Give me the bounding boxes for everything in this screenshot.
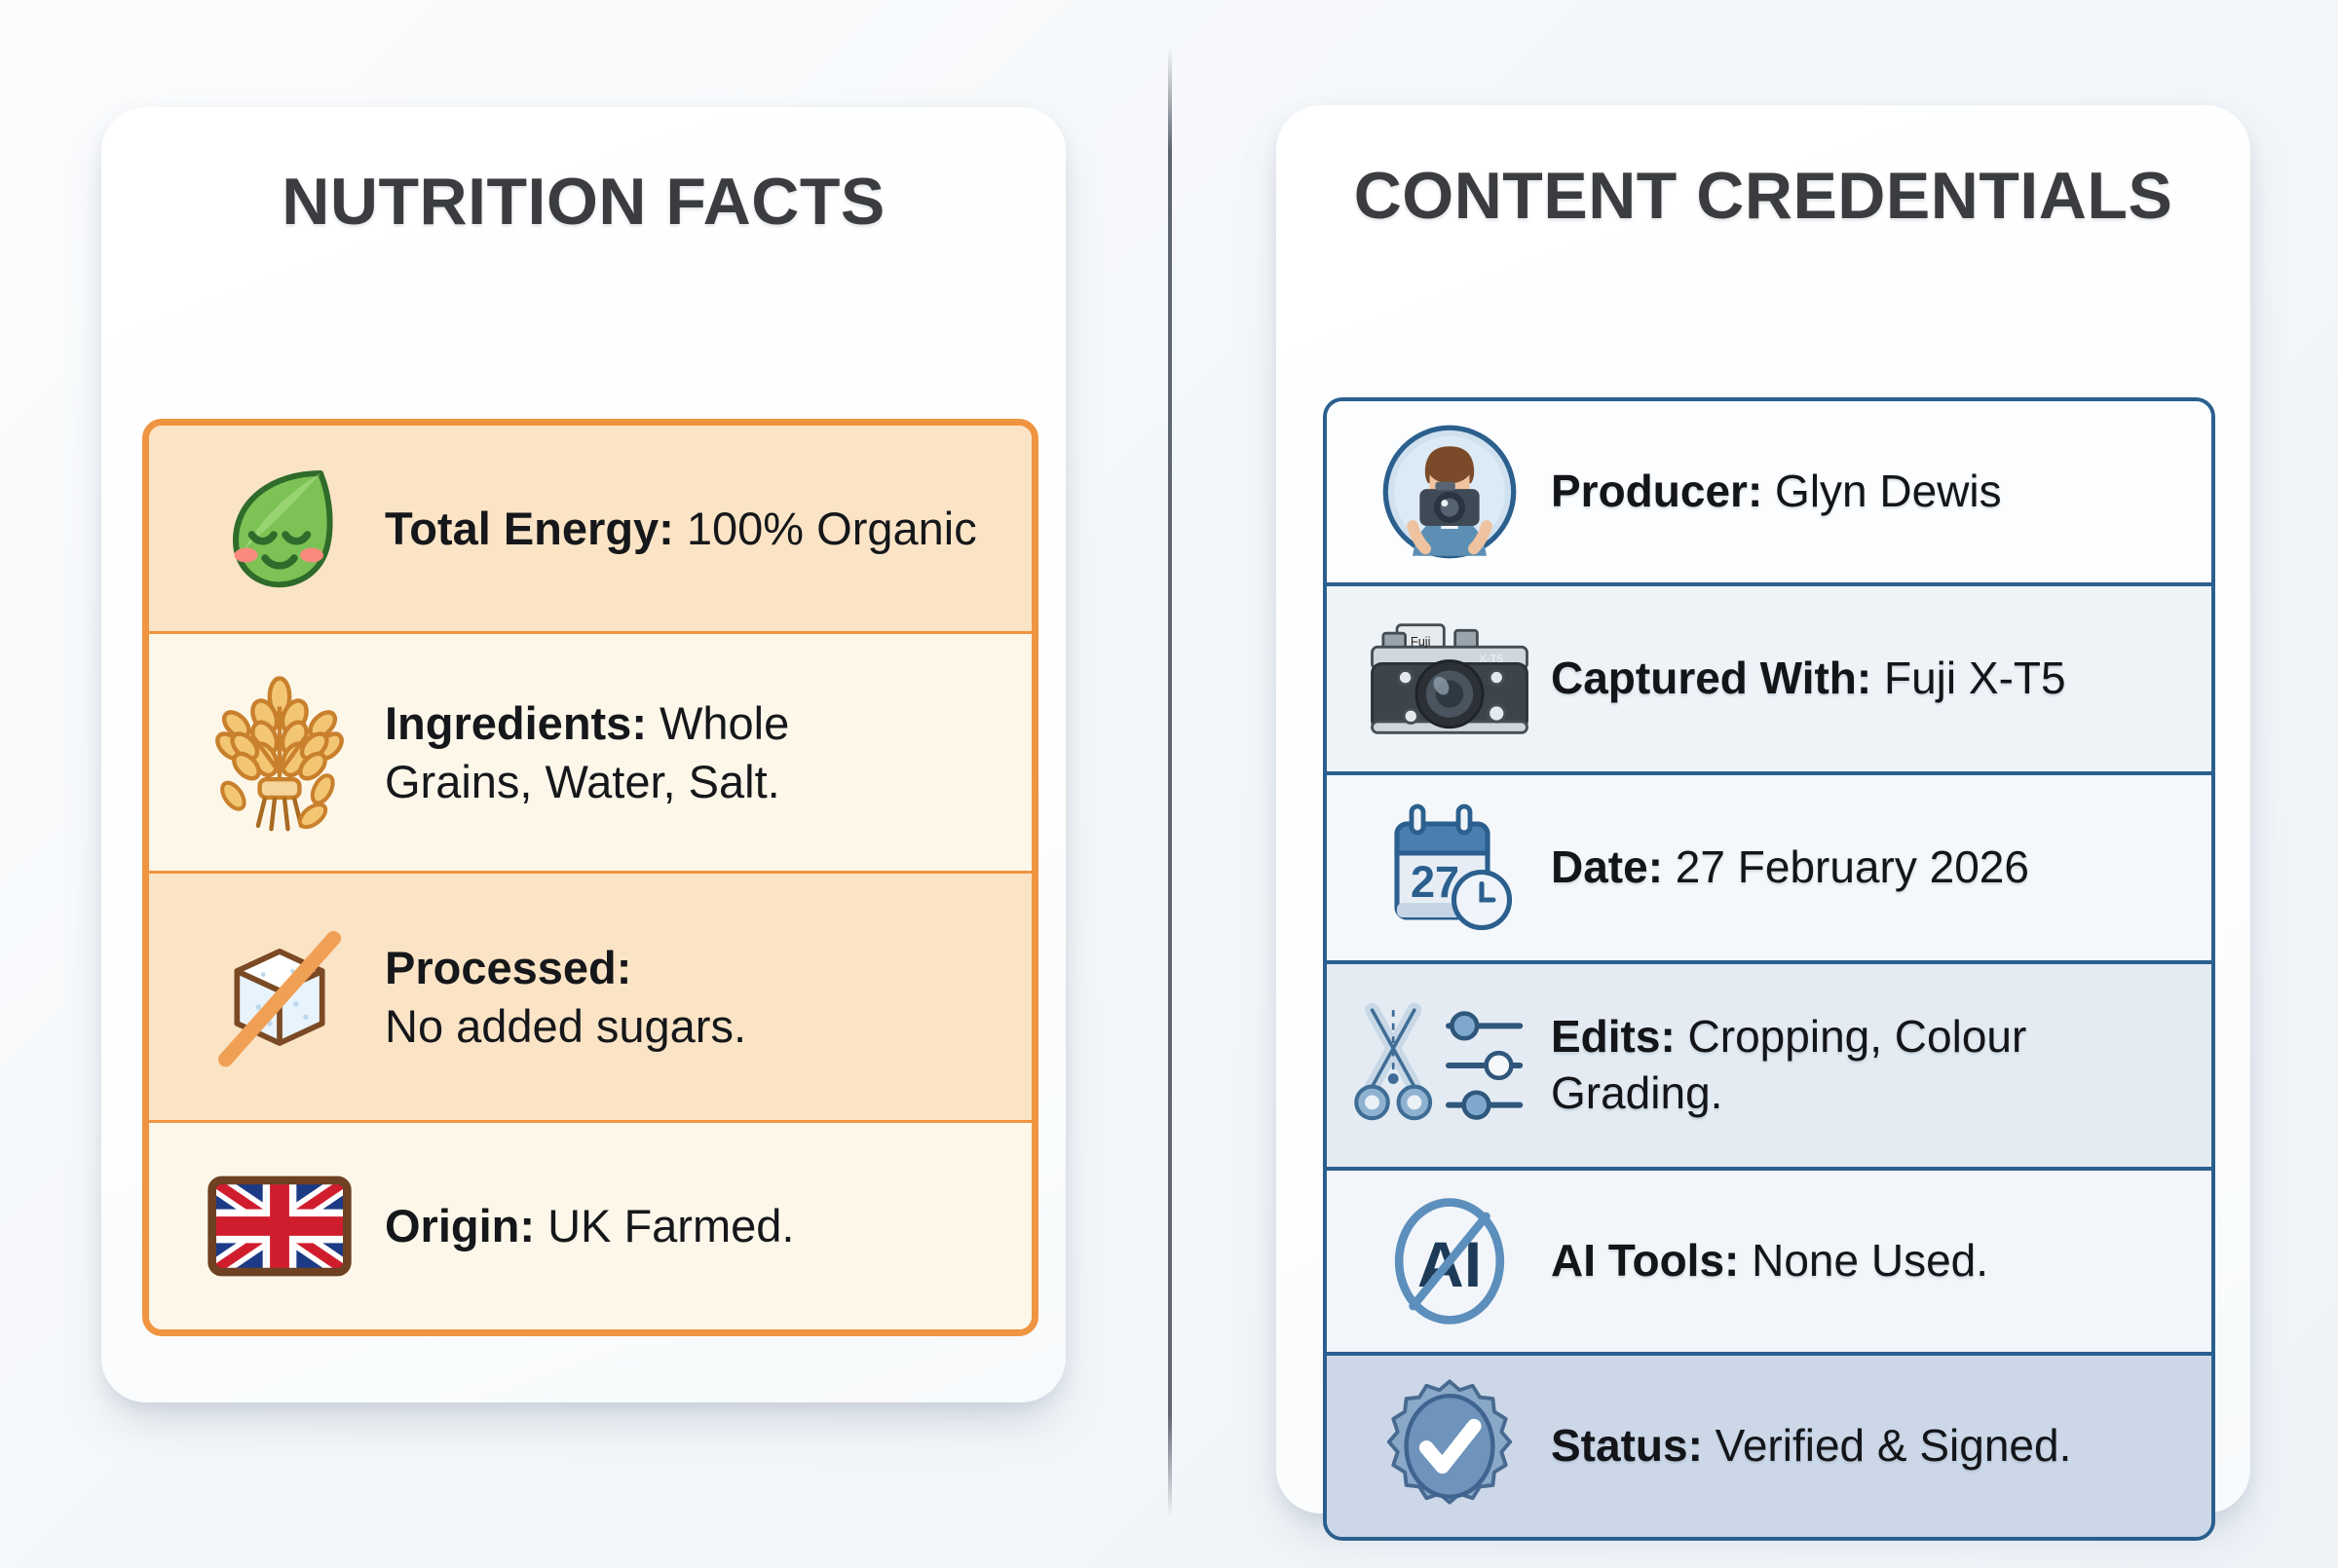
table-row-text: Captured With: Fuji X-T5 xyxy=(1545,651,2066,707)
table-row[interactable]: Producer: Glyn Dewis xyxy=(1327,401,2211,586)
table-row[interactable]: Total Energy: 100% Organic xyxy=(149,426,1032,634)
row-value: Verified & Signed. xyxy=(1703,1420,2071,1471)
content-credentials-table: Producer: Glyn Dewis xyxy=(1323,397,2215,1541)
row-value: No added sugars. xyxy=(385,1000,746,1052)
fuji-camera-icon: Fuji X-T5 xyxy=(1354,611,1545,747)
nutrition-facts-title: NUTRITION FACTS xyxy=(101,164,1066,240)
content-credentials-title: CONTENT CREDENTIALS xyxy=(1276,158,2250,234)
photographer-avatar-icon xyxy=(1354,421,1545,563)
table-row-text: Date: 27 February 2026 xyxy=(1545,840,2029,896)
table-row-text: Processed: No added sugars. xyxy=(377,939,756,1054)
table-row[interactable]: AI AI Tools: None Used. xyxy=(1327,1171,2211,1356)
table-row[interactable]: Processed: No added sugars. xyxy=(149,874,1032,1123)
row-label: Date: xyxy=(1551,841,1663,892)
row-label: AI Tools: xyxy=(1551,1235,1739,1286)
calendar-clock-icon: 27 xyxy=(1354,795,1545,941)
row-label: Processed: xyxy=(385,942,631,993)
row-label: Total Energy: xyxy=(385,503,674,554)
row-label: Edits: xyxy=(1551,1011,1676,1062)
nutrition-facts-panel: NUTRITION FACTS Total Energy: xyxy=(101,107,1066,1402)
infographic-canvas: NUTRITION FACTS Total Energy: xyxy=(0,0,2338,1568)
no-ai-icon: AI xyxy=(1354,1191,1545,1331)
table-row-text: Producer: Glyn Dewis xyxy=(1545,464,2002,520)
row-value: None Used. xyxy=(1739,1235,1988,1286)
row-value: UK Farmed. xyxy=(535,1200,794,1251)
table-row-text: Status: Verified & Signed. xyxy=(1545,1418,2071,1475)
table-row-text: Total Energy: 100% Organic xyxy=(377,500,987,557)
smiling-leaf-icon xyxy=(182,456,377,602)
row-label: Origin: xyxy=(385,1200,535,1251)
table-row[interactable]: Origin: UK Farmed. xyxy=(149,1123,1032,1329)
row-label: Captured With: xyxy=(1551,653,1871,703)
table-row[interactable]: Status: Verified & Signed. xyxy=(1327,1356,2211,1537)
row-label: Producer: xyxy=(1551,466,1762,516)
verified-badge-icon xyxy=(1354,1374,1545,1518)
table-row-text: Edits: Cropping, Colour Grading. xyxy=(1545,1009,2135,1122)
table-row-text: Origin: UK Farmed. xyxy=(377,1197,804,1254)
table-row-text: AI Tools: None Used. xyxy=(1545,1233,1988,1289)
row-label: Ingredients: xyxy=(385,697,647,749)
row-value: 100% Organic xyxy=(674,503,977,554)
table-row[interactable]: 27 Date: 27 February 2026 xyxy=(1327,775,2211,964)
content-credentials-panel: CONTENT CREDENTIALS xyxy=(1276,105,2250,1513)
uk-flag-icon xyxy=(182,1176,377,1277)
nutrition-facts-table: Total Energy: 100% Organic xyxy=(142,419,1038,1336)
center-divider xyxy=(1168,47,1172,1517)
row-value: 27 February 2026 xyxy=(1663,841,2029,892)
row-label: Status: xyxy=(1551,1420,1703,1471)
no-sugar-cube-icon xyxy=(182,915,377,1079)
table-row[interactable]: Ingredients: Whole Grains, Water, Salt. xyxy=(149,634,1032,874)
camera-brand-label: Fuji xyxy=(1411,634,1431,649)
table-row[interactable]: Fuji X-T5 Captured With: Fuji X-T5 xyxy=(1327,586,2211,775)
scissors-sliders-icon xyxy=(1344,1002,1545,1129)
table-row[interactable]: Edits: Cropping, Colour Grading. xyxy=(1327,964,2211,1171)
table-row-text: Ingredients: Whole Grains, Water, Salt. xyxy=(377,694,940,809)
wheat-bundle-icon xyxy=(182,670,377,836)
camera-model-label: X-T5 xyxy=(1479,653,1503,665)
row-value: Glyn Dewis xyxy=(1762,466,2001,516)
row-value: Fuji X-T5 xyxy=(1871,653,2065,703)
